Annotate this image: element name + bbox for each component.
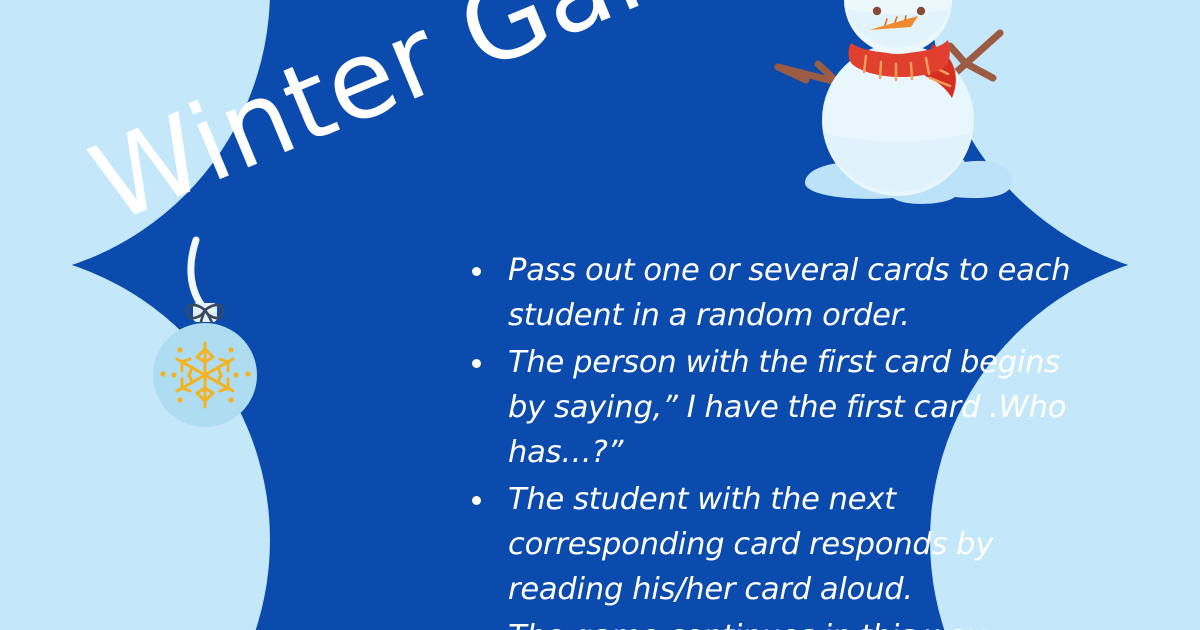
bullet-dot-icon <box>472 496 481 505</box>
bullet-dot-icon <box>472 267 481 276</box>
instruction-text: The student with the next corresponding … <box>508 482 993 607</box>
instruction-text: The game continues in this way <box>508 619 985 630</box>
list-item: The person with the first card begins by… <box>462 340 1072 475</box>
instruction-text: The person with the first card begins by… <box>508 345 1066 470</box>
snowman-right-eye <box>917 7 925 15</box>
list-item: The game continues in this way <box>462 614 1072 630</box>
winter-game-poster: Winter Game Pass out one or several card… <box>0 0 1200 630</box>
list-item: Pass out one or several cards to each st… <box>462 248 1072 338</box>
list-item: The student with the next corresponding … <box>462 477 1072 612</box>
instructions-list: Pass out one or several cards to each st… <box>462 248 1072 630</box>
bullet-dot-icon <box>472 359 481 368</box>
snowman-left-eye <box>873 7 881 15</box>
instruction-text: Pass out one or several cards to each st… <box>508 253 1070 333</box>
